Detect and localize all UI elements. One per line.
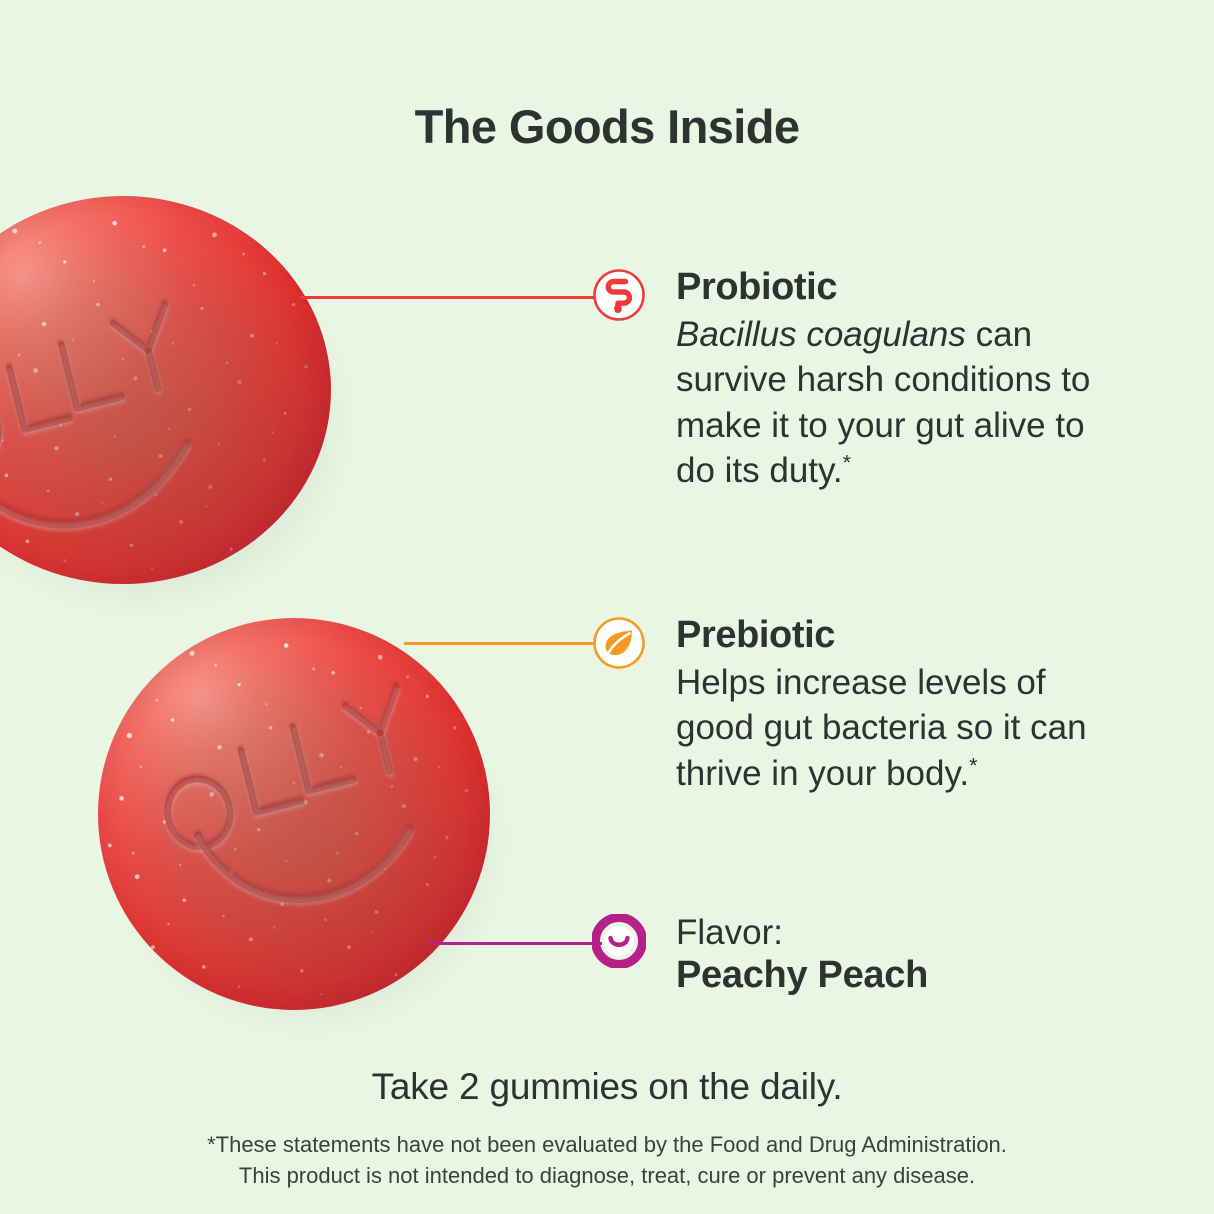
leaf-icon	[592, 616, 646, 670]
disclaimer-line-1: *These statements have not been evaluate…	[0, 1129, 1214, 1160]
gummy-shadow	[112, 652, 504, 1032]
callout-heading-probiotic: Probiotic	[676, 268, 1096, 308]
callout-body-prebiotic: Helps increase levels of good gut bacter…	[676, 660, 1096, 797]
connector-line-probiotic	[300, 296, 600, 299]
callout-heading-prebiotic: Prebiotic	[676, 616, 1096, 656]
callout-body-rest: Helps increase levels of good gut bacter…	[676, 663, 1087, 793]
gut-icon	[592, 268, 646, 322]
page-title: The Goods Inside	[0, 99, 1214, 154]
footnote-marker: *	[969, 752, 977, 777]
flavor-value: Peachy Peach	[676, 952, 928, 1000]
callout-probiotic: Probiotic Bacillus coagulans can survive…	[592, 268, 1096, 494]
callout-flavor: Flavor: Peachy Peach	[592, 914, 928, 999]
callout-prebiotic: Prebiotic Helps increase levels of good …	[592, 616, 1096, 796]
disclaimer-line-2: This product is not intended to diagnose…	[0, 1160, 1214, 1191]
species-name: Bacillus coagulans	[676, 315, 966, 354]
flavor-label: Flavor:	[676, 914, 928, 952]
fda-disclaimer: *These statements have not been evaluate…	[0, 1129, 1214, 1191]
dosage-instruction: Take 2 gummies on the daily.	[0, 1066, 1214, 1108]
connector-line-flavor	[430, 942, 602, 945]
callout-body-probiotic: Bacillus coagulans can survive harsh con…	[676, 312, 1096, 494]
footnote-marker: *	[843, 450, 851, 475]
smile-icon	[592, 914, 646, 968]
connector-line-prebiotic	[404, 642, 600, 645]
product-infographic: The Goods Inside	[0, 0, 1214, 1214]
